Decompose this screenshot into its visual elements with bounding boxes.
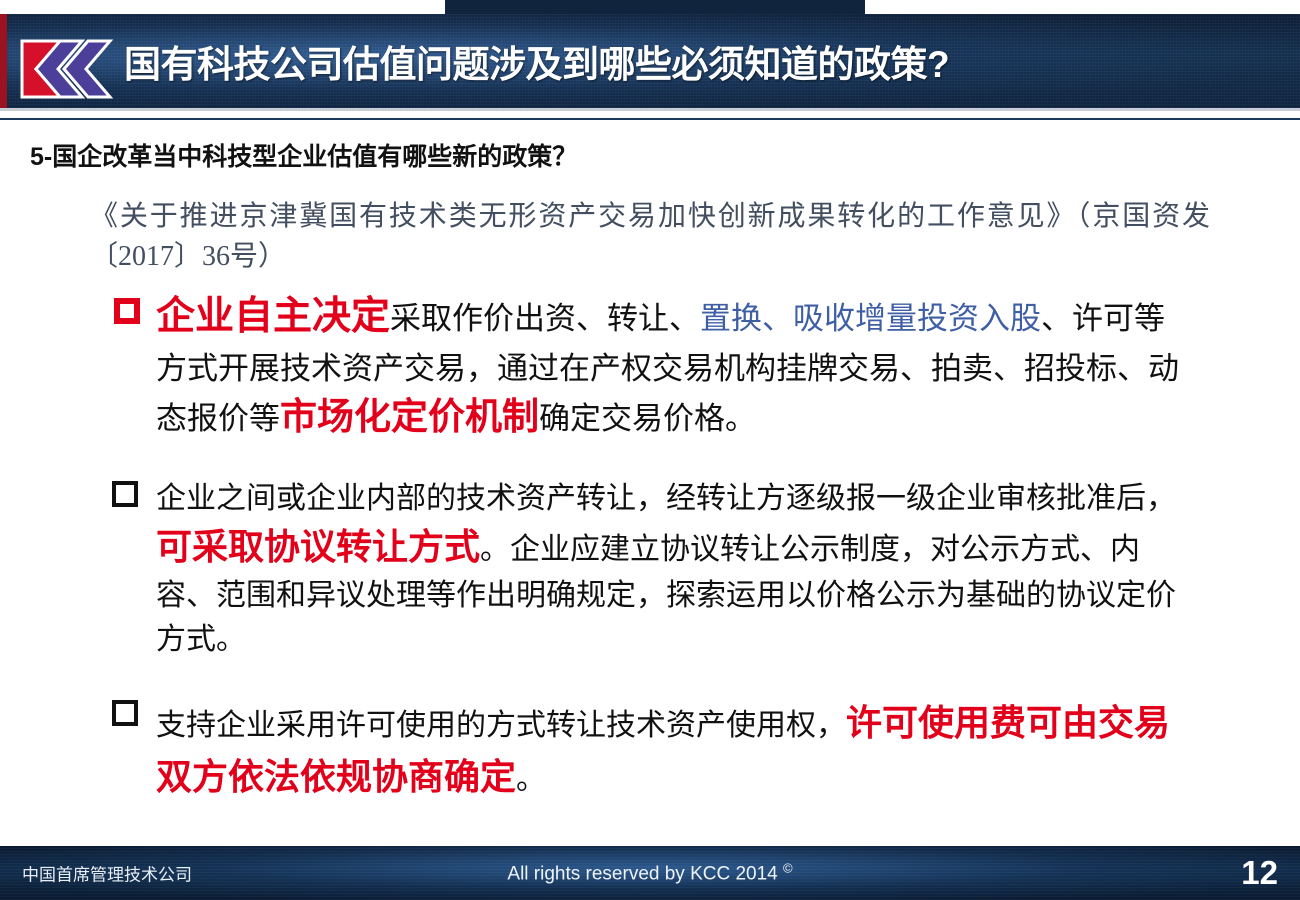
top-decorative-bar [445, 0, 865, 14]
bullet-1-segment-2: 采取作价出资、转让、 [390, 301, 700, 336]
square-outline-black-icon [112, 700, 138, 726]
page-title: 国有科技公司估值问题涉及到哪些必须知道的政策? [124, 34, 949, 88]
square-outline-red-icon [114, 298, 140, 324]
slide-body: 5-国企改革当中科技型企业估值有哪些新的政策？ 《关于推进京津冀国有技术类无形资… [0, 121, 1300, 846]
bullet-3-segment-1: 支持企业采用许可使用的方式转让技术资产使用权， [156, 709, 846, 742]
document-citation: 《关于推进京津冀国有技术类无形资产交易加快创新成果转化的工作意见》（京国资发〔2… [90, 197, 1210, 277]
copyright-icon: © [783, 860, 793, 875]
square-outline-black-icon [112, 481, 138, 507]
header-divider-dark [0, 118, 1300, 120]
header-red-accent-bar [0, 14, 7, 108]
section-subheading: 5-国企改革当中科技型企业估值有哪些新的政策？ [30, 137, 577, 173]
slide-header: 国有科技公司估值问题涉及到哪些必须知道的政策? [0, 14, 1300, 108]
list-item: 企业自主决定采取作价出资、转让、置换、吸收增量投资入股、许可等方式开展技术资产交… [112, 289, 1192, 445]
list-item: 企业之间或企业内部的技术资产转让，经转让方逐级报一级企业审核批准后，可采取协议转… [112, 477, 1192, 662]
footer-copyright-text: All rights reserved by KCC 2014 [507, 864, 777, 885]
bullet-2-segment-1: 企业之间或企业内部的技术资产转让，经转让方逐级报一级企业审核批准后， [156, 482, 1176, 515]
page-number: 12 [1241, 854, 1278, 892]
bullet-1-segment-1: 企业自主决定 [156, 295, 390, 338]
footer-copyright: All rights reserved by KCC 2014 © [0, 860, 1300, 885]
presentation-slide: 国有科技公司估值问题涉及到哪些必须知道的政策? 5-国企改革当中科技型企业估值有… [0, 0, 1300, 900]
bullet-1-segment-5: 市场化定价机制 [280, 397, 539, 438]
bullet-3-segment-3: 。 [516, 763, 546, 796]
kcc-logo [16, 38, 120, 100]
bullet-1-segment-6: 确定交易价格。 [539, 401, 756, 436]
bullet-list: 企业自主决定采取作价出资、转让、置换、吸收增量投资入股、许可等方式开展技术资产交… [112, 289, 1192, 804]
list-item: 支持企业采用许可使用的方式转让技术资产使用权，许可使用费可由交易双方依法依规协商… [112, 696, 1192, 804]
bullet-2-segment-2: 可采取协议转让方式 [156, 527, 480, 567]
header-divider-light [0, 108, 1300, 111]
bullet-1-segment-3: 置换、吸收增量投资入股 [700, 301, 1041, 336]
slide-footer: 中国首席管理技术公司 All rights reserved by KCC 20… [0, 846, 1300, 900]
